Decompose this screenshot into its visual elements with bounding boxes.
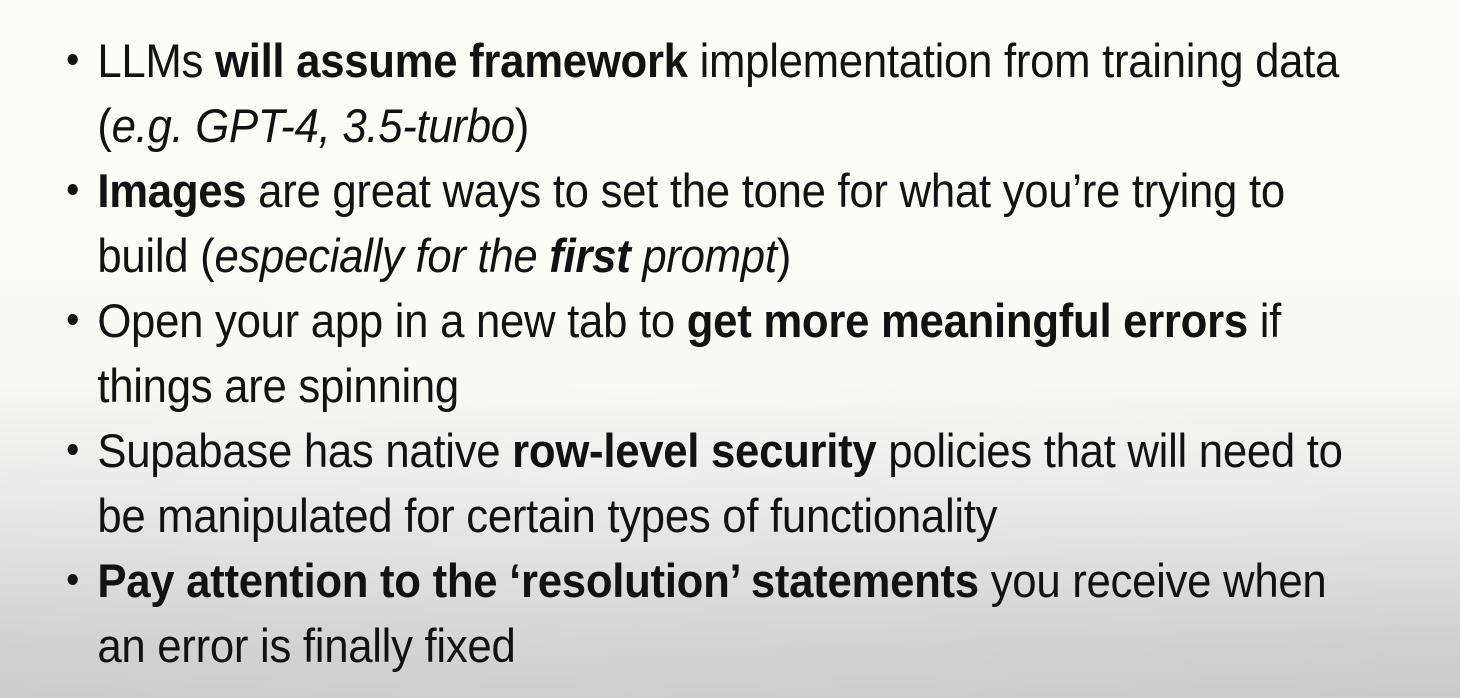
bullet-point-icon: [68, 54, 78, 65]
bullet-item: Supabase has native row-level security p…: [62, 418, 1345, 548]
bullet-text: Images are great ways to set the tone fo…: [97, 164, 1285, 282]
bullet-text: Pay attention to the ‘resolution’ statem…: [97, 554, 1326, 672]
bullet-item: LLMs will assume framework implementatio…: [62, 28, 1345, 158]
bullet-point-icon: [68, 444, 78, 455]
bullet-point-icon: [68, 314, 78, 325]
bullet-list: LLMs will assume framework implementatio…: [0, 0, 1460, 678]
bullet-item: Pay attention to the ‘resolution’ statem…: [62, 548, 1345, 678]
slide-canvas: LLMs will assume framework implementatio…: [0, 0, 1460, 698]
bullet-point-icon: [68, 184, 78, 195]
bullet-text: LLMs will assume framework implementatio…: [97, 34, 1339, 152]
bullet-text: Open your app in a new tab to get more m…: [97, 294, 1281, 412]
bullet-text: Supabase has native row-level security p…: [97, 424, 1342, 542]
bullet-item: Open your app in a new tab to get more m…: [62, 288, 1345, 418]
bullet-point-icon: [68, 574, 78, 585]
bullet-item: Images are great ways to set the tone fo…: [62, 158, 1345, 288]
